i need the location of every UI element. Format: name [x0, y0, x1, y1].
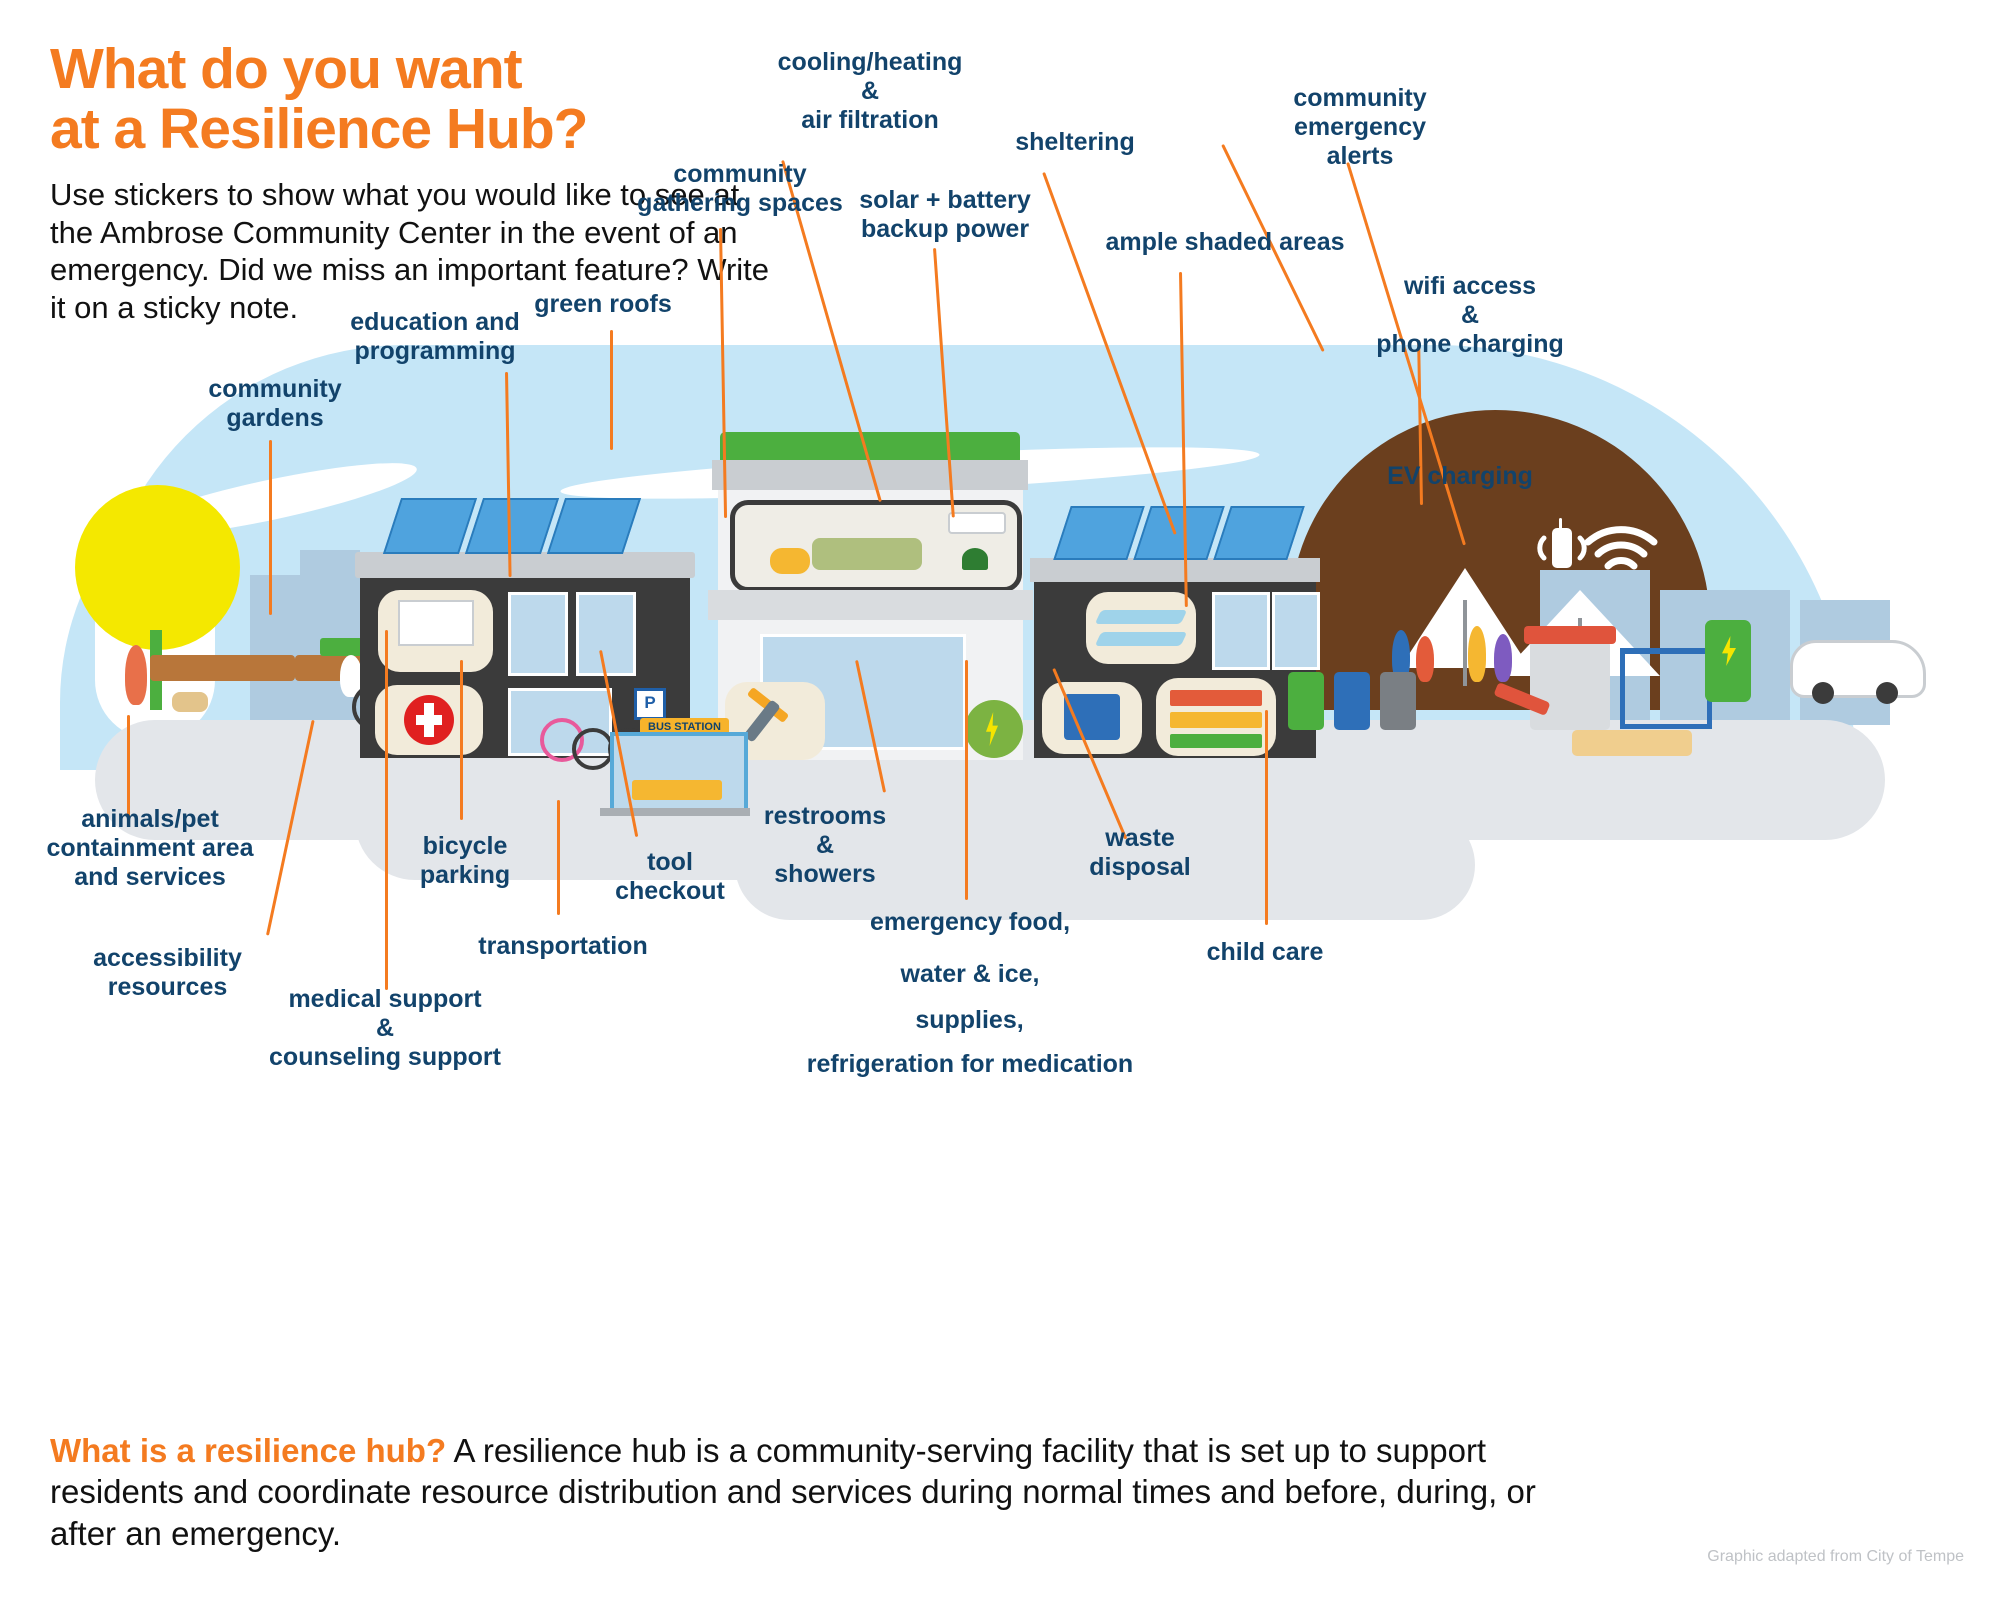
wifi-icon — [1530, 510, 1670, 590]
label-emergency-food-1: emergency food, — [840, 908, 1100, 937]
footer-block: What is a resilience hub? A resilience h… — [50, 1430, 1600, 1554]
leader-community-gardens — [269, 440, 272, 615]
label-wifi-phone-charging: wifi access & phone charging — [1300, 272, 1640, 359]
leader-child-care — [1265, 710, 1268, 925]
beanbag-icon — [770, 548, 810, 574]
right-building-roof — [1030, 558, 1320, 582]
bus-bench-icon — [632, 780, 722, 800]
crowd-figure — [1416, 636, 1434, 682]
label-emergency-food-3: supplies, — [862, 1006, 1077, 1035]
leader-green-roofs — [610, 330, 613, 450]
footer-question: What is a resilience hub? — [50, 1432, 446, 1469]
leader-medical — [385, 630, 388, 990]
sandbox-icon — [1572, 730, 1692, 756]
label-emergency-food-2: water & ice, — [860, 960, 1080, 989]
label-waste-disposal: waste disposal — [1030, 824, 1250, 882]
sleeping-mat-1 — [1095, 610, 1188, 624]
whiteboard-icon — [398, 600, 474, 646]
label-transportation: transportation — [438, 932, 688, 961]
label-child-care: child care — [1155, 938, 1375, 967]
tree-canopy — [75, 485, 240, 650]
supplies-shelf-2 — [1170, 712, 1262, 728]
right-building-window — [1272, 592, 1320, 670]
sleeping-mat-2 — [1095, 632, 1188, 646]
sofa-icon — [812, 538, 922, 570]
green-roof-icon — [720, 432, 1020, 460]
canopy-post — [1463, 600, 1467, 686]
potted-plant-icon — [962, 548, 988, 570]
garden-bed-1 — [150, 655, 295, 681]
crowd-figure — [1468, 626, 1486, 682]
supplies-shelf-1 — [1170, 690, 1262, 706]
label-cooling-heating: cooling/heating & air filtration — [710, 48, 1030, 135]
playground-roof — [1524, 626, 1616, 644]
leader-bicycle-parking — [460, 660, 463, 820]
credit-line: Graphic adapted from City of Tempe — [1707, 1548, 1964, 1566]
label-bicycle-parking: bicycle parking — [355, 832, 575, 890]
label-restrooms-showers: restrooms & showers — [700, 802, 950, 889]
supplies-shelf-3 — [1170, 734, 1262, 748]
cross-horizontal — [416, 715, 442, 725]
dog-walker-figure — [125, 645, 147, 705]
playground-icon — [1530, 640, 1610, 730]
right-building-window — [1212, 592, 1270, 670]
label-emergency-food-4: refrigeration for medication — [770, 1050, 1170, 1079]
center-building-mid — [708, 590, 1033, 620]
hvac-icon — [948, 512, 1006, 534]
label-community-gardens: community gardens — [150, 375, 400, 433]
label-community-emergency-alerts: community emergency alerts — [1230, 84, 1490, 171]
left-building-window — [508, 592, 568, 676]
footer-paragraph: What is a resilience hub? A resilience h… — [50, 1430, 1600, 1554]
dog-icon — [172, 692, 208, 712]
left-building-roof — [355, 552, 695, 578]
car-wheel — [1876, 682, 1898, 704]
label-green-roofs: green roofs — [478, 290, 728, 319]
swing-set-icon — [1620, 648, 1712, 729]
car-wheel — [1812, 682, 1834, 704]
electric-car-icon — [1790, 640, 1926, 698]
sheltering-icon — [1086, 592, 1196, 664]
label-medical-counseling: medical support & counseling support — [230, 985, 540, 1072]
parking-sign-icon: P — [634, 688, 666, 720]
waste-bin-icon — [1288, 672, 1416, 730]
crowd-figure — [1494, 634, 1512, 682]
label-animals-pet: animals/pet containment area and service… — [10, 805, 290, 892]
label-ev-charging: EV charging — [1330, 462, 1590, 491]
leader-emergency-food — [965, 660, 968, 900]
infographic-canvas: What do you want at a Resilience Hub? Us… — [0, 0, 2000, 1600]
label-solar-battery: solar + battery backup power — [810, 186, 1080, 244]
label-sheltering: sheltering — [940, 128, 1210, 157]
left-building-window — [576, 592, 636, 676]
page-title: What do you want at a Resilience Hub? — [50, 40, 790, 160]
label-ample-shaded-areas: ample shaded areas — [1050, 228, 1400, 257]
